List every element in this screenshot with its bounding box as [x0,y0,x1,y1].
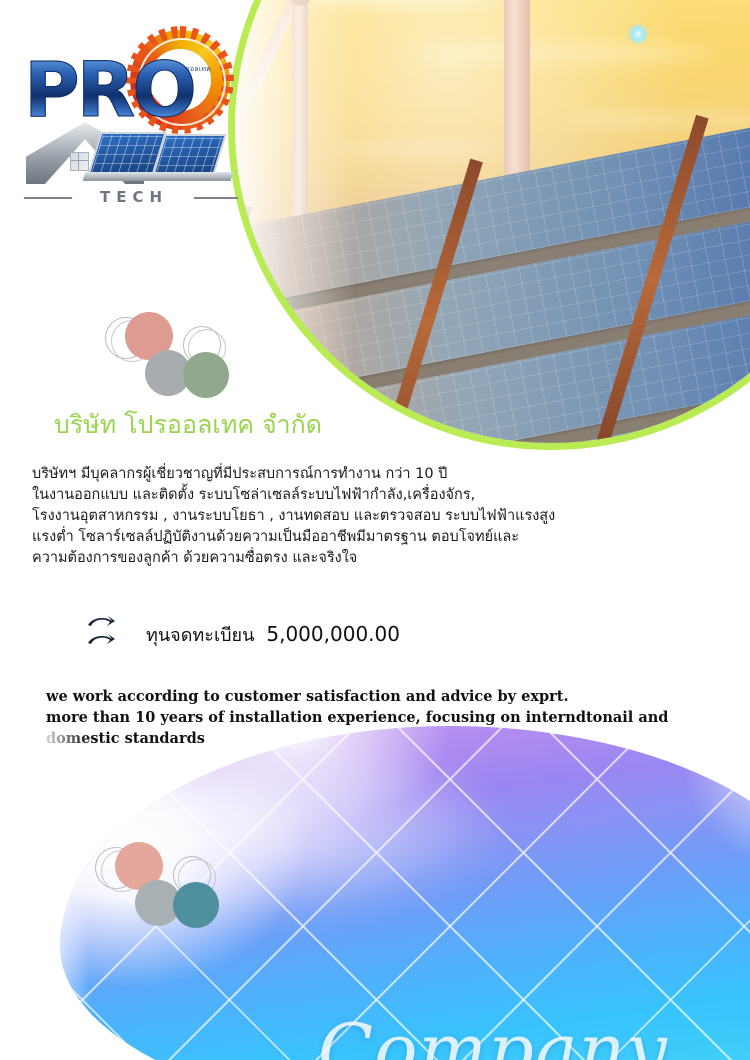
blob-left-fade [0,726,90,1060]
divider-line [194,197,238,199]
decor-circles-bottom [85,842,235,934]
logo-tech-label: TECH [78,188,190,206]
exchange-arrows-icon [82,612,124,656]
about-line: บริษัทฯ มีบุคลากรผู้เชี่ยวชาญที่มีประสบก… [32,464,612,485]
green-circle [183,352,229,398]
registered-capital-row: ทุนจดทะเบียน 5,000,000.00 [82,612,400,656]
company-logo: โปรออลเทค PRO TECH [18,28,240,188]
teal-circle [173,882,219,928]
house-window-icon [70,152,89,171]
capital-amount: 5,000,000.00 [266,622,400,646]
logo-tech-row: TECH [24,188,238,206]
english-line: we work according to customer satisfacti… [46,686,646,707]
divider-line [24,197,72,199]
about-line: โรงงานอุตสาหกรรม , งานระบบโยธา , งานทดสอ… [32,506,612,527]
profile-page: โปรออลเทค PRO TECH บริษัท โปรออลเทค จำกั… [0,0,750,1060]
capital-label: ทุนจดทะเบียน [146,620,254,649]
about-line: แรงต่ำ โซลาร์เซลล์ปฏิบัติงานด้วยความเป็น… [32,527,612,548]
company-name-heading: บริษัท โปรออลเทค จำกัด [54,405,322,445]
about-line: ความต้องการของลูกค้า ด้วยความซื่อตรง และ… [32,548,612,569]
hero-image-circle [228,0,750,450]
english-line: more than 10 years of installation exper… [46,707,646,728]
decor-circles-top [95,312,245,404]
about-line: ในงานออกแบบ และติดตั้ง ระบบโซล่าเซลล์ระบ… [32,485,612,506]
lens-flare [627,23,649,45]
panel-base [83,172,234,181]
logo-wordmark: PRO [24,52,194,128]
footer-script-text: Company [318,1008,668,1060]
about-paragraph: บริษัทฯ มีบุคลากรผู้เชี่ยวชาญที่มีประสบก… [32,464,612,569]
hero-left-fade [235,0,355,450]
